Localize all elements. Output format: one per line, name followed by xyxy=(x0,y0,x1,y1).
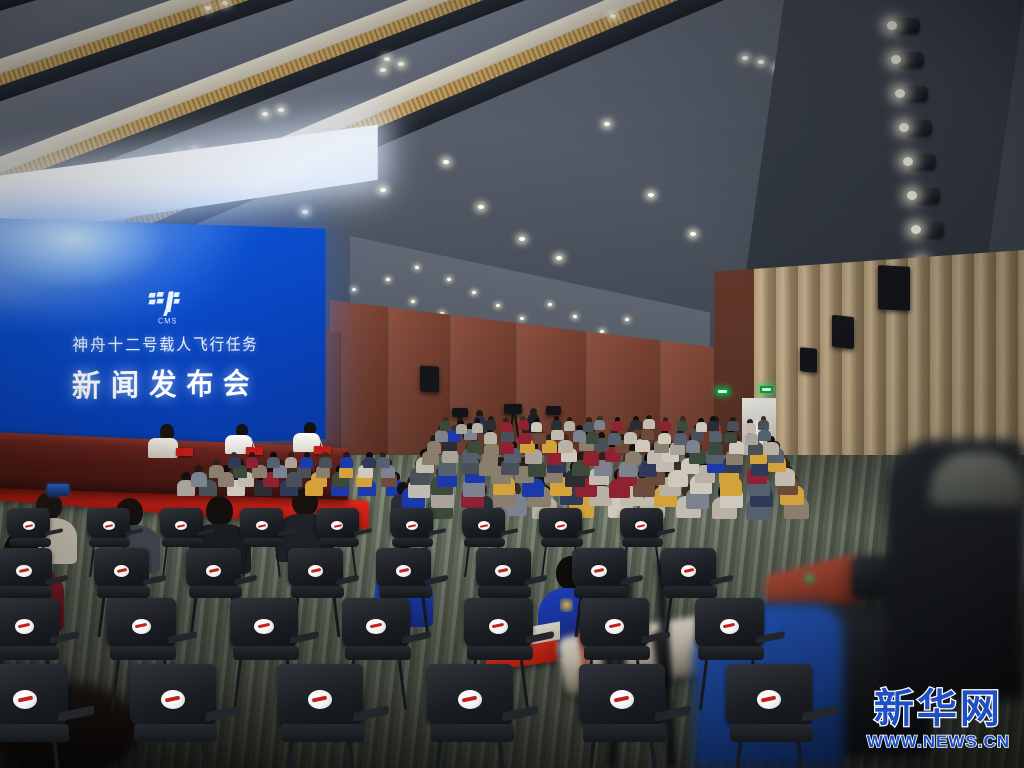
chair-leg xyxy=(200,741,212,768)
audience-person xyxy=(698,418,707,432)
chair-logo-badge xyxy=(591,565,606,577)
person-torso xyxy=(209,465,224,478)
audience-person xyxy=(710,416,719,430)
person-torso xyxy=(707,421,718,431)
ceiling-downlight xyxy=(472,291,476,294)
nameplate xyxy=(176,448,193,456)
person-torso xyxy=(745,433,758,444)
person-torso xyxy=(518,420,529,430)
person-torso xyxy=(440,421,451,431)
chair-seat xyxy=(291,586,344,598)
ceiling-downlight xyxy=(556,256,562,260)
audience-chair[interactable] xyxy=(0,664,108,768)
chair-logo-badge xyxy=(16,565,31,577)
audience-person xyxy=(615,417,624,431)
chair-seat xyxy=(89,538,130,547)
chair-logo-badge xyxy=(610,690,634,709)
led-presentation-screen: CMS 神舟十二号载人飞行任务 新闻发布会 xyxy=(0,218,326,450)
chair-seat xyxy=(583,724,666,743)
person-torso xyxy=(660,421,671,431)
audience-chair[interactable] xyxy=(726,664,852,768)
person-torso xyxy=(745,423,756,433)
screen-title: 新闻发布会 xyxy=(72,360,259,405)
news-agency-watermark: 新华网 WWW.NEWS.CN xyxy=(867,689,1010,752)
audience-person xyxy=(380,452,390,468)
person-torso xyxy=(300,457,313,468)
audience-person xyxy=(343,452,353,468)
cms-logo: CMS xyxy=(148,291,187,326)
person-torso xyxy=(758,420,769,430)
audience-person xyxy=(249,452,259,468)
person-torso xyxy=(573,430,586,441)
audience-person xyxy=(567,417,576,431)
chair-leg xyxy=(282,741,294,768)
camera-rig-back xyxy=(546,406,561,415)
ceiling-downlight xyxy=(302,210,308,214)
audience-person xyxy=(534,418,543,432)
person-torso xyxy=(191,472,207,487)
chair-seat xyxy=(574,586,627,598)
wall-speaker xyxy=(878,265,910,311)
stage-spotlight xyxy=(906,120,932,135)
person-torso xyxy=(583,451,599,465)
chair-leg xyxy=(97,597,104,637)
chair-seat xyxy=(233,646,299,661)
chair-logo-badge xyxy=(406,521,418,530)
person-torso xyxy=(340,457,353,468)
audience-person xyxy=(680,416,689,430)
audience-person xyxy=(488,416,497,430)
person-torso xyxy=(551,420,562,430)
person-torso xyxy=(625,451,641,465)
audience-person xyxy=(663,417,672,431)
audience-person xyxy=(646,415,655,429)
audience-person xyxy=(458,420,467,434)
chair-logo-badge xyxy=(161,690,185,709)
audience-person xyxy=(213,459,224,478)
person-torso xyxy=(674,433,687,444)
person-torso xyxy=(435,430,448,441)
camera-rig-back xyxy=(452,408,468,417)
ceiling-downlight xyxy=(742,56,748,60)
audience-person xyxy=(520,416,529,430)
chair-logo-badge xyxy=(495,565,510,577)
person-torso xyxy=(764,442,779,455)
ceiling-downlight xyxy=(519,237,525,241)
ceiling-downlight xyxy=(496,304,500,307)
ceiling-downlight xyxy=(411,300,415,303)
person-torso xyxy=(531,422,542,432)
person-torso xyxy=(533,433,546,444)
ceiling-downlight xyxy=(478,205,484,209)
audience-person xyxy=(586,417,595,431)
person-torso xyxy=(427,441,442,454)
chair-seat xyxy=(0,646,59,661)
ceiling-downlight xyxy=(386,278,390,281)
chair-logo-badge xyxy=(396,565,411,577)
chair-logo-badge xyxy=(103,521,115,530)
person-torso xyxy=(758,430,771,441)
chair-leg xyxy=(584,741,596,768)
chair-logo-badge xyxy=(555,521,567,530)
chair-seat xyxy=(0,586,52,598)
camera-rig-back xyxy=(504,404,522,414)
chair-logo-badge xyxy=(13,690,37,709)
person-torso xyxy=(658,433,671,444)
person-torso xyxy=(319,457,332,468)
audience-person xyxy=(633,416,642,430)
cms-logo-text: CMS xyxy=(158,317,178,326)
person-torso xyxy=(724,432,737,443)
chair-seat xyxy=(189,586,242,598)
chair-seat xyxy=(467,646,533,661)
chair-seat xyxy=(664,586,717,598)
chair-logo-badge xyxy=(132,619,151,634)
chair-seat xyxy=(478,586,531,598)
person-torso xyxy=(285,457,298,468)
chair-seat xyxy=(134,724,217,743)
ceiling-downlight xyxy=(262,112,268,116)
stage-spotlight xyxy=(914,188,940,203)
audience-person xyxy=(554,416,563,430)
audience-person xyxy=(597,416,606,430)
person-torso xyxy=(586,432,599,443)
audience-person xyxy=(747,419,756,433)
person-torso xyxy=(485,420,496,430)
ceiling-downlight xyxy=(625,318,629,321)
audience-chair[interactable] xyxy=(277,664,403,768)
ceiling-downlight xyxy=(205,6,211,10)
ceiling-downlight xyxy=(222,1,228,5)
chair-logo-badge xyxy=(489,619,508,634)
person-torso xyxy=(558,440,573,453)
person-torso xyxy=(624,432,637,443)
audience-person xyxy=(443,417,452,431)
chair-leg xyxy=(655,546,661,577)
ceiling-downlight xyxy=(690,232,696,236)
person-torso xyxy=(267,457,280,468)
person-torso xyxy=(608,433,621,444)
chair-seat xyxy=(464,538,505,547)
wall-speaker xyxy=(800,347,817,373)
chair-leg xyxy=(53,741,65,768)
person-torso xyxy=(709,431,722,442)
person-torso xyxy=(500,422,511,432)
chair-logo-badge xyxy=(478,521,490,530)
chair-leg xyxy=(796,741,808,768)
chair-logo-badge xyxy=(15,619,34,634)
person-torso xyxy=(612,421,623,431)
audience-person xyxy=(270,452,280,468)
ceiling-downlight xyxy=(573,315,577,318)
chair-seat xyxy=(541,538,582,547)
ceiling-downlight xyxy=(520,317,524,320)
audience-person xyxy=(598,432,609,451)
chair-logo-badge xyxy=(256,521,268,530)
chair-logo-badge xyxy=(308,690,332,709)
ceiling-downlight xyxy=(447,278,451,281)
chair-seat xyxy=(345,646,411,661)
person-torso xyxy=(630,420,641,430)
person-torso xyxy=(484,443,499,456)
chair-seat xyxy=(281,724,364,743)
audience-chair[interactable] xyxy=(579,664,705,768)
watermark-url: WWW.NEWS.CN xyxy=(867,732,1010,752)
ceiling-downlight xyxy=(610,14,616,18)
audience-person xyxy=(322,452,332,468)
person-torso xyxy=(641,429,654,440)
audience-person xyxy=(366,452,376,468)
chair-logo-badge xyxy=(605,619,624,634)
chair-logo-badge xyxy=(720,619,739,634)
audience-person xyxy=(194,465,206,487)
person-torso xyxy=(583,422,594,432)
press-conference-photo: CMS 神舟十二号载人飞行任务 新闻发布会 xyxy=(0,0,1024,768)
stage-spotlight xyxy=(910,154,936,169)
audience-person xyxy=(677,428,687,445)
ceiling-downlight xyxy=(548,303,552,306)
person-torso xyxy=(363,457,376,468)
stage-spotlight xyxy=(898,52,924,67)
ceiling-downlight xyxy=(398,62,404,66)
ceiling-downlight xyxy=(384,57,390,61)
smartphone xyxy=(47,484,69,496)
audience-person xyxy=(231,452,241,468)
chair-leg xyxy=(275,546,281,577)
chair-leg xyxy=(465,546,471,577)
ceiling-downlight xyxy=(604,122,610,126)
watermark-brand: 新华网 xyxy=(867,689,1010,729)
person-torso xyxy=(708,442,723,455)
ceiling-downlight xyxy=(278,108,284,112)
chair-seat xyxy=(431,724,514,743)
wall-speaker xyxy=(832,315,854,349)
screen-subtitle: 神舟十二号载人飞行任务 xyxy=(72,331,258,355)
person-torso xyxy=(727,421,738,431)
chair-logo-badge xyxy=(254,619,273,634)
chair-logo-badge xyxy=(458,690,482,709)
chair-leg xyxy=(135,741,147,768)
ceiling-downlight xyxy=(648,193,654,197)
record-button xyxy=(804,574,815,583)
person-torso xyxy=(635,439,650,452)
audience-person xyxy=(288,452,298,468)
chair-leg xyxy=(731,741,743,768)
person-torso xyxy=(377,457,390,468)
chair-seat xyxy=(698,646,764,661)
ceiling-downlight xyxy=(380,68,386,72)
chair-seat xyxy=(242,538,283,547)
audience-chair[interactable] xyxy=(427,664,553,768)
stage-spotlight xyxy=(894,18,920,33)
person-torso xyxy=(696,422,707,432)
person-torso xyxy=(456,424,467,434)
exit-sign xyxy=(716,388,729,395)
person-torso xyxy=(467,441,482,454)
exit-sign xyxy=(760,386,773,393)
person-torso xyxy=(643,419,654,429)
panelist-body xyxy=(148,438,178,458)
person-torso xyxy=(518,433,531,444)
person-torso xyxy=(551,429,564,440)
ceiling-downlight xyxy=(443,160,449,164)
chair-seat xyxy=(0,724,69,743)
chair-leg xyxy=(497,741,509,768)
stage-spotlight xyxy=(902,86,928,101)
chair-logo-badge xyxy=(206,565,221,577)
audience-person xyxy=(503,418,512,432)
ceiling-downlight xyxy=(380,188,386,192)
chair-logo-badge xyxy=(114,565,129,577)
chair-logo-badge xyxy=(757,690,781,709)
audience-chair[interactable] xyxy=(130,664,256,768)
person-torso xyxy=(472,423,483,433)
ceiling-downlight xyxy=(758,60,764,64)
wall-speaker xyxy=(420,366,439,393)
chair-logo-badge xyxy=(681,565,696,577)
chair-logo-badge xyxy=(366,619,385,634)
person-torso xyxy=(686,440,701,453)
chair-leg xyxy=(347,741,359,768)
stage-spotlight xyxy=(918,222,944,237)
chair-logo-badge xyxy=(308,565,323,577)
chair-seat xyxy=(110,646,176,661)
chair-leg xyxy=(649,741,661,768)
person-torso xyxy=(594,420,605,430)
person-torso xyxy=(677,421,688,431)
audience-person xyxy=(761,416,770,430)
chair-seat xyxy=(584,646,650,661)
ceiling-downlight xyxy=(352,288,356,291)
person-torso xyxy=(228,457,241,468)
chair-leg xyxy=(333,597,340,637)
audience-person xyxy=(730,417,739,431)
person-torso xyxy=(500,441,515,454)
person-torso xyxy=(564,421,575,431)
audience-person xyxy=(304,452,314,468)
audience-person xyxy=(475,418,484,432)
chair-leg xyxy=(432,741,444,768)
person-torso xyxy=(729,441,744,454)
person-torso xyxy=(484,432,497,443)
ceiling-downlight xyxy=(415,266,419,269)
chair-seat xyxy=(730,724,813,743)
person-torso xyxy=(246,457,259,468)
chair-leg xyxy=(111,659,120,709)
cms-emblem-icon xyxy=(148,291,187,316)
